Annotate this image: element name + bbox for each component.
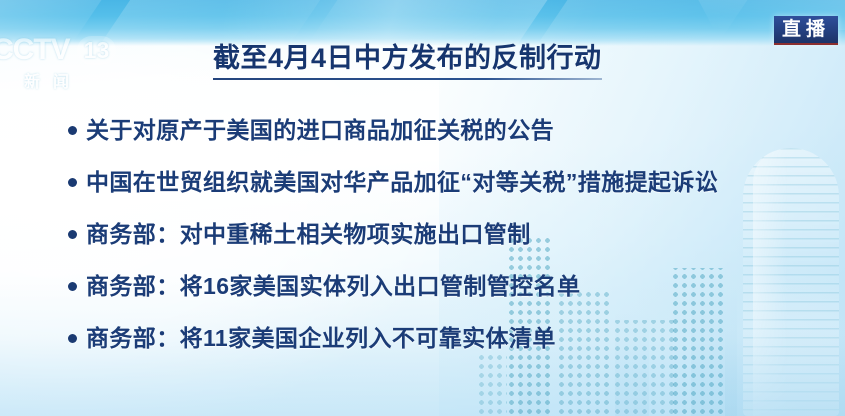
list-item: 关于对原产于美国的进口商品加征关税的公告 <box>68 104 828 156</box>
headline-underline <box>213 78 602 80</box>
bullet-dot-icon <box>68 334 77 343</box>
channel-subtitle: 新闻 <box>24 68 138 92</box>
list-item-label: 中国在世贸组织就美国对华产品加征“对等关税”措施提起诉讼 <box>86 168 718 196</box>
bullet-dot-icon <box>68 178 77 187</box>
headline: 截至4月4日中方发布的反制行动 <box>213 42 602 80</box>
header-facet-4 <box>540 0 759 40</box>
broadcast-graphic: CCTV 13 新闻 直播 截至4月4日中方发布的反制行动 关于对原产于美国的进… <box>0 0 845 416</box>
list-item: 商务部：对中重稀土相关物项实施出口管制 <box>68 208 828 260</box>
measure-list: 关于对原产于美国的进口商品加征关税的公告 中国在世贸组织就美国对华产品加征“对等… <box>68 104 828 364</box>
bullet-dot-icon <box>68 230 77 239</box>
bullet-dot-icon <box>68 126 77 135</box>
list-item-label: 商务部：将11家美国企业列入不可靠实体清单 <box>86 324 556 352</box>
headline-text: 截至4月4日中方发布的反制行动 <box>213 42 602 74</box>
channel-logo-wordmark: CCTV <box>0 33 70 67</box>
bullet-dot-icon <box>68 282 77 291</box>
channel-number-badge: 13 <box>77 36 117 65</box>
list-item-label: 关于对原产于美国的进口商品加征关税的公告 <box>86 116 554 144</box>
list-item-label: 商务部：对中重稀土相关物项实施出口管制 <box>86 220 531 248</box>
list-item: 商务部：将11家美国企业列入不可靠实体清单 <box>68 312 828 364</box>
live-badge: 直播 <box>774 16 838 45</box>
list-item-label: 商务部：将16家美国实体列入出口管制管控名单 <box>86 272 580 300</box>
header-facet-3 <box>308 0 563 44</box>
channel-logo-row: CCTV 13 <box>0 33 138 67</box>
channel-logo: CCTV 13 新闻 <box>0 33 138 95</box>
live-badge-label: 直播 <box>782 19 830 41</box>
list-item: 商务部：将16家美国实体列入出口管制管控名单 <box>68 260 828 312</box>
list-item: 中国在世贸组织就美国对华产品加征“对等关税”措施提起诉讼 <box>68 156 828 208</box>
